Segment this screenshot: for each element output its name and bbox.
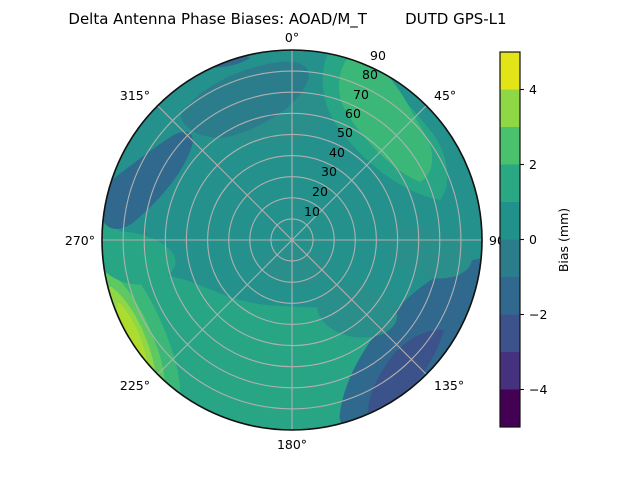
polar-plot-svg: 0° 45° 90 135° 180° 225° 270° 315° 10 20… [0, 0, 640, 480]
polar-grid [102, 50, 482, 430]
radial-tick-50: 50 [337, 125, 353, 140]
radial-tick-10: 10 [304, 204, 320, 219]
figure-canvas: Delta Antenna Phase Biases: AOAD/M_T DUT… [0, 0, 640, 480]
colorbar-tick-label-4: 4 [529, 82, 537, 97]
colorbar-tick-label-neg2: −2 [529, 307, 547, 322]
colorbar-band-7 [500, 127, 520, 165]
radial-tick-30: 30 [321, 164, 337, 179]
radial-tick-70: 70 [353, 87, 369, 102]
colorbar-tick-label-2: 2 [529, 157, 537, 172]
colorbar-tick-label-0: 0 [529, 232, 537, 247]
colorbar-band-9 [500, 52, 520, 90]
colorbar-tick-label-neg4: −4 [529, 382, 547, 397]
colorbar-band-4 [500, 240, 520, 278]
radial-tick-60: 60 [345, 106, 361, 121]
angular-tick-45: 45° [434, 88, 456, 103]
colorbar-band-8 [500, 90, 520, 128]
radial-tick-90: 90 [370, 48, 386, 63]
angular-tick-0: 0° [285, 30, 299, 45]
angular-tick-270: 270° [65, 233, 95, 248]
radial-tick-20: 20 [312, 184, 328, 199]
colorbar-band-3 [500, 277, 520, 315]
colorbar-axis-label: Bias (mm) [556, 208, 571, 272]
colorbar-band-5 [500, 202, 520, 240]
radial-tick-40: 40 [329, 145, 345, 160]
angular-tick-225: 225° [120, 378, 150, 393]
colorbar-band-0 [500, 390, 520, 428]
colorbar-band-6 [500, 165, 520, 203]
colorbar[interactable]: 4 2 0 −2 −4 Bias (mm) [500, 52, 571, 427]
radial-tick-80: 80 [362, 67, 378, 82]
colorbar-band-2 [500, 315, 520, 353]
angular-tick-180: 180° [277, 437, 307, 452]
angular-tick-135: 135° [434, 378, 464, 393]
polar-plot-container: 0° 45° 90 135° 180° 225° 270° 315° 10 20… [0, 0, 640, 480]
angular-tick-315: 315° [120, 88, 150, 103]
colorbar-band-1 [500, 352, 520, 390]
